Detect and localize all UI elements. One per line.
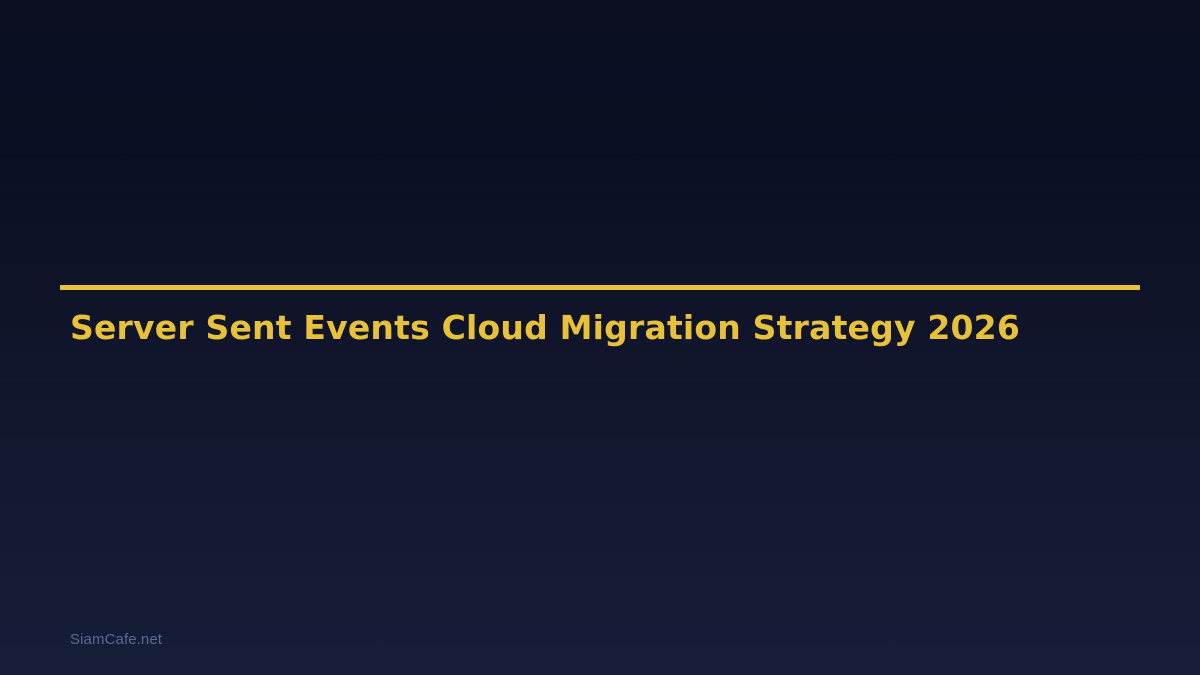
page-title: Server Sent Events Cloud Migration Strat… bbox=[70, 308, 1020, 348]
accent-rule bbox=[60, 285, 1140, 290]
title-block: Server Sent Events Cloud Migration Strat… bbox=[60, 285, 1140, 290]
title-slide: Server Sent Events Cloud Migration Strat… bbox=[0, 0, 1200, 675]
footer-watermark: SiamCafe.net bbox=[70, 630, 162, 650]
